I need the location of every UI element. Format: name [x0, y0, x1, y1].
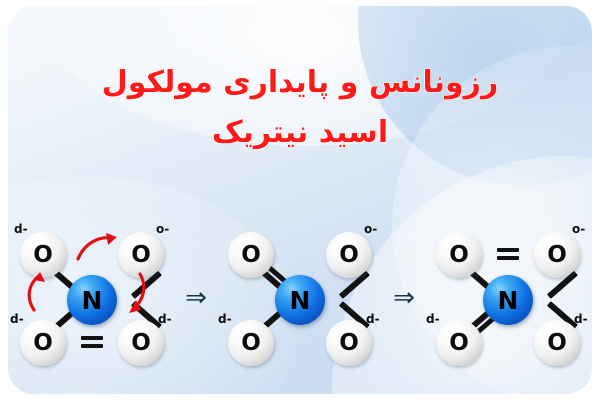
- oxygen-atom-bottom-left: O: [228, 320, 274, 366]
- oxygen-atom-bottom-left: O: [20, 320, 66, 366]
- reaction-arrow-2: ⇒: [384, 285, 424, 311]
- resonance-structures-row: O O N O O d- o- d- d-: [8, 224, 592, 376]
- oxygen-atom-bottom-right: O: [118, 320, 164, 366]
- charge-label-bottom-right: d-: [574, 312, 588, 326]
- charge-label-bottom-left: d-: [218, 312, 232, 326]
- page-title: رزونانس و پایداری مولکول اسید نیتریک: [8, 58, 592, 158]
- nitrogen-atom-center: N: [483, 275, 533, 325]
- charge-label-bottom-right: d-: [158, 312, 172, 326]
- nitrogen-atom-center: N: [275, 275, 325, 325]
- oxygen-atom-bottom-right: O: [326, 320, 372, 366]
- molecule-structure-2: O O N O O o- d- d-: [216, 224, 384, 376]
- charge-label-bottom-left: d-: [426, 312, 440, 326]
- oxygen-atom-top-left: O: [436, 232, 482, 278]
- charge-label-top-right: o-: [156, 222, 169, 236]
- title-line-1: رزونانس و پایداری مولکول: [8, 58, 592, 108]
- molecule-structure-1: O O N O O d- o- d- d-: [8, 224, 176, 376]
- oxygen-atom-top-right: O: [118, 232, 164, 278]
- oxygen-atom-top-right: O: [326, 232, 372, 278]
- reaction-arrow-1: ⇒: [176, 285, 216, 311]
- oxygen-atom-bottom-left: O: [436, 320, 482, 366]
- oxygen-atom-top-right: O: [534, 232, 580, 278]
- charge-label-top-right: o-: [364, 222, 377, 236]
- charge-label-top-right: o-: [572, 222, 585, 236]
- slide-canvas: رزونانس و پایداری مولکول اسید نیتریک O O…: [8, 6, 592, 394]
- title-line-2: اسید نیتریک: [8, 108, 592, 158]
- oxygen-atom-bottom-right: O: [534, 320, 580, 366]
- nitrogen-atom-center: N: [67, 275, 117, 325]
- slide-root: رزونانس و پایداری مولکول اسید نیتریک O O…: [0, 0, 600, 400]
- molecule-structure-3: O O N O O o- d- d-: [424, 224, 592, 376]
- charge-label-bottom-left: d-: [10, 312, 24, 326]
- double-bond-mark-top: [497, 248, 519, 260]
- charge-label-top-left: d-: [14, 222, 28, 236]
- double-bond-mark-bottom: [81, 336, 103, 348]
- resonance-arrow-up-right: [76, 232, 120, 262]
- oxygen-atom-top-left: O: [20, 232, 66, 278]
- oxygen-atom-top-left: O: [228, 232, 274, 278]
- charge-label-bottom-right: d-: [366, 312, 380, 326]
